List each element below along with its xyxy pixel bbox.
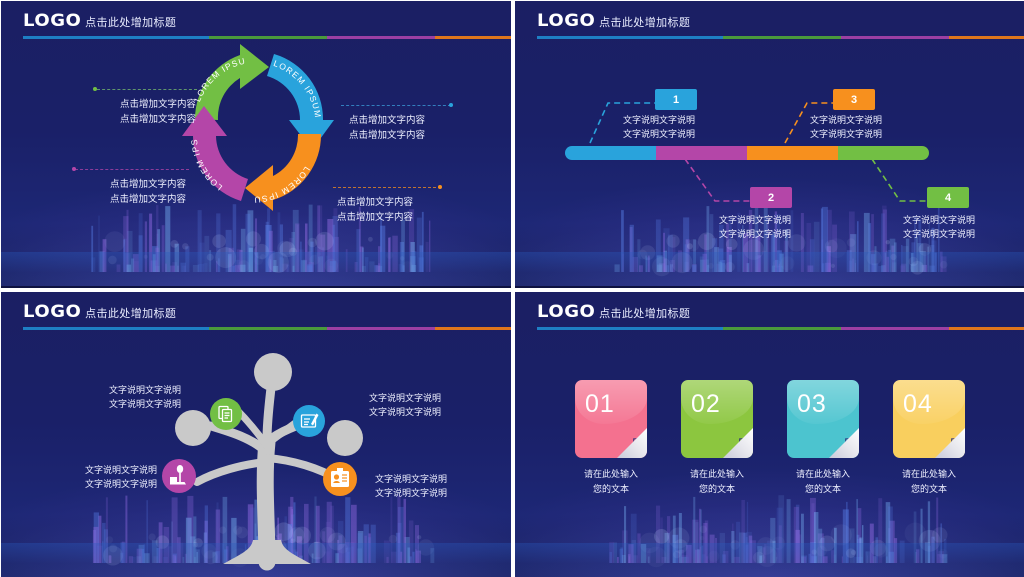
- timeline-bar: [565, 146, 929, 160]
- cycle-callout-4: 点击增加文字内容 点击增加文字内容: [337, 195, 477, 225]
- timeline-step-box-4[interactable]: 4: [927, 187, 969, 208]
- card-caption-2: 请在此处输入 您的文本: [690, 467, 744, 497]
- card-fold-corner: [723, 428, 753, 458]
- timeline-step-text-4-line2: 文字说明文字说明: [903, 227, 975, 241]
- leader-dot-orange: [438, 185, 442, 189]
- cycle-callout-2-line2: 点击增加文字内容: [349, 128, 489, 143]
- leader-line-green: [97, 89, 197, 90]
- slide-cards[interactable]: LOGO 点击此处增加标题 01 题 请在此处输入 您的文本: [515, 292, 1024, 577]
- tree-text-id-badge-line2: 文字说明文字说明: [375, 486, 447, 500]
- tree-node-presenter[interactable]: [162, 459, 196, 493]
- card-number-1: 01: [585, 390, 615, 419]
- card-caption-2-line1: 请在此处输入: [690, 467, 744, 482]
- number-card-1[interactable]: 01 题: [575, 380, 647, 458]
- cycle-callout-4-line2: 点击增加文字内容: [337, 210, 477, 225]
- tree-text-documents-line1: 文字说明文字说明: [81, 383, 181, 397]
- tree-text-id-badge: 文字说明文字说明 文字说明文字说明: [375, 472, 447, 500]
- tree-base: [223, 540, 311, 564]
- tree-text-edit-form: 文字说明文字说明 文字说明文字说明: [369, 391, 441, 419]
- slide-tree[interactable]: LOGO 点击此处增加标题: [1, 292, 511, 577]
- leader-line-orange: [333, 187, 441, 188]
- svg-text:LOREM IPSUM: LOREM IPSUM: [1, 1, 247, 103]
- number-card-4[interactable]: 04 题: [893, 380, 965, 458]
- tree-text-presenter-line1: 文字说明文字说明: [57, 463, 157, 477]
- tree-text-presenter: 文字说明文字说明 文字说明文字说明: [57, 463, 157, 491]
- slide-timeline[interactable]: LOGO 点击此处增加标题 1: [515, 1, 1024, 288]
- slide-header: LOGO 点击此处增加标题: [537, 302, 1011, 330]
- timeline-step-text-1: 文字说明文字说明 文字说明文字说明: [623, 113, 695, 141]
- number-card-2[interactable]: 02 题: [681, 380, 753, 458]
- card-item-3[interactable]: 03 题 请在此处输入 您的文本: [787, 380, 859, 497]
- tree-text-presenter-line2: 文字说明文字说明: [57, 477, 157, 491]
- cycle-callout-1-line2: 点击增加文字内容: [61, 112, 196, 127]
- timeline-step-box-1[interactable]: 1: [655, 89, 697, 110]
- slide-cycle[interactable]: LOGO 点击此处增加标题: [1, 1, 511, 288]
- leader-dot-blue: [449, 103, 453, 107]
- tree-node-documents[interactable]: [210, 398, 242, 430]
- card-caption-2-line2: 您的文本: [690, 482, 744, 497]
- timeline-step-number-1: 1: [673, 94, 679, 106]
- tree-blank-leaf-3: [327, 420, 363, 456]
- cycle-callout-3-line1: 点击增加文字内容: [51, 177, 186, 192]
- card-fold-corner: [829, 428, 859, 458]
- tree-node-id-badge[interactable]: [323, 462, 357, 496]
- timeline-step-text-3: 文字说明文字说明 文字说明文字说明: [810, 113, 882, 141]
- timeline-step-number-4: 4: [945, 192, 951, 204]
- leader-dot-green: [93, 87, 97, 91]
- cycle-callout-3: 点击增加文字内容 点击增加文字内容: [51, 177, 186, 207]
- slide-grid: LOGO 点击此处增加标题: [0, 0, 1024, 577]
- timeline-connectors: [515, 1, 1024, 288]
- cycle-callout-2-line1: 点击增加文字内容: [349, 113, 489, 128]
- card-item-2[interactable]: 02 题 请在此处输入 您的文本: [681, 380, 753, 497]
- timeline-step-box-2[interactable]: 2: [750, 187, 792, 208]
- sea-glow-decoration: [515, 543, 1024, 577]
- leader-line-blue: [341, 105, 451, 106]
- card-caption-4-line1: 请在此处输入: [902, 467, 956, 482]
- timeline-step-text-4-line1: 文字说明文字说明: [903, 213, 975, 227]
- cycle-callout-1-line1: 点击增加文字内容: [61, 97, 196, 112]
- city-skyline-decoration: [515, 491, 1024, 577]
- tree-text-id-badge-line1: 文字说明文字说明: [375, 472, 447, 486]
- card-caption-4-line2: 您的文本: [902, 482, 956, 497]
- timeline-step-box-3[interactable]: 3: [833, 89, 875, 110]
- timeline-step-number-3: 3: [851, 94, 857, 106]
- tree-text-edit-form-line2: 文字说明文字说明: [369, 405, 441, 419]
- card-caption-3-line2: 您的文本: [796, 482, 850, 497]
- card-caption-4: 请在此处输入 您的文本: [902, 467, 956, 497]
- card-number-3: 03: [797, 390, 827, 419]
- cycle-arrow-label-green: LOREM IPSUM: [1, 1, 247, 103]
- tree-text-edit-form-line1: 文字说明文字说明: [369, 391, 441, 405]
- card-caption-3-line1: 请在此处输入: [796, 467, 850, 482]
- header-accent-bar: [537, 327, 1024, 330]
- timeline-step-text-4: 文字说明文字说明 文字说明文字说明: [903, 213, 975, 241]
- cycle-callout-4-line1: 点击增加文字内容: [337, 195, 477, 210]
- card-fold-corner: [617, 428, 647, 458]
- timeline-step-text-3-line1: 文字说明文字说明: [810, 113, 882, 127]
- leader-dot-purple: [72, 167, 76, 171]
- card-caption-1: 请在此处输入 您的文本: [584, 467, 638, 497]
- card-caption-1-line2: 您的文本: [584, 482, 638, 497]
- logo-text: LOGO: [537, 302, 595, 322]
- page-title: 点击此处增加标题: [599, 305, 690, 321]
- tree-diagram[interactable]: 文字说明文字说明 文字说明文字说明 文字说明文字说明 文字说明文字说明 文字说明…: [1, 292, 511, 577]
- number-card-3[interactable]: 03 题: [787, 380, 859, 458]
- tree-text-documents: 文字说明文字说明 文字说明文字说明: [81, 383, 181, 411]
- timeline-step-text-2-line1: 文字说明文字说明: [719, 213, 791, 227]
- tree-blank-leaf-1: [254, 353, 292, 391]
- timeline-step-number-2: 2: [768, 192, 774, 204]
- timeline-step-text-1-line2: 文字说明文字说明: [623, 127, 695, 141]
- cycle-callout-2: 点击增加文字内容 点击增加文字内容: [349, 113, 489, 143]
- card-item-1[interactable]: 01 题 请在此处输入 您的文本: [575, 380, 647, 497]
- card-number-2: 02: [691, 390, 721, 419]
- card-caption-3: 请在此处输入 您的文本: [796, 467, 850, 497]
- tree-node-edit-form[interactable]: [293, 405, 325, 437]
- card-fold-corner: [935, 428, 965, 458]
- tree-blank-leaf-2: [175, 410, 211, 446]
- timeline-step-text-3-line2: 文字说明文字说明: [810, 127, 882, 141]
- timeline-step-text-1-line1: 文字说明文字说明: [623, 113, 695, 127]
- timeline-step-text-2: 文字说明文字说明 文字说明文字说明: [719, 213, 791, 241]
- cycle-diagram[interactable]: LOREM IPSUM LOREM IPSUM LOREM IPSUM LORE…: [1, 1, 511, 286]
- card-caption-1-line1: 请在此处输入: [584, 467, 638, 482]
- number-cards-row[interactable]: 01 题 请在此处输入 您的文本 02 题 请在此处输入: [515, 380, 1024, 497]
- timeline-step-text-2-line2: 文字说明文字说明: [719, 227, 791, 241]
- tree-text-documents-line2: 文字说明文字说明: [81, 397, 181, 411]
- card-item-4[interactable]: 04 题 请在此处输入 您的文本: [893, 380, 965, 497]
- card-number-4: 04: [903, 390, 933, 419]
- cycle-callout-3-line2: 点击增加文字内容: [51, 192, 186, 207]
- leader-line-purple: [75, 169, 189, 170]
- cycle-callout-1: 点击增加文字内容 点击增加文字内容: [61, 97, 196, 127]
